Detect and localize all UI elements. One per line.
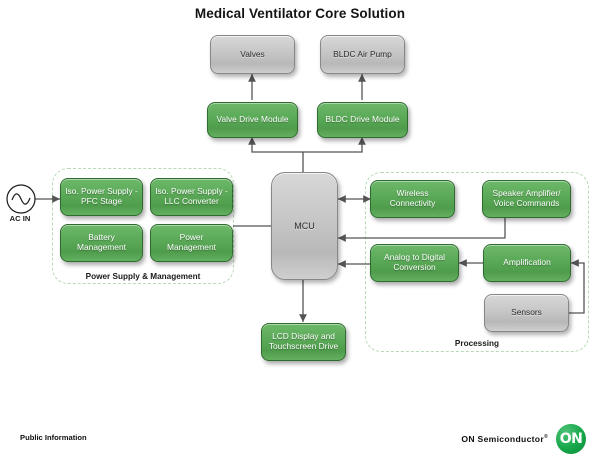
node-wireless-connectivity[interactable]: Wireless Connectivity: [370, 180, 455, 218]
node-bldc-drive-module[interactable]: BLDC Drive Module: [317, 102, 408, 138]
diagram-canvas: Medical Ventilator Core Solution: [0, 0, 600, 469]
node-power-management[interactable]: Power Management: [150, 224, 233, 262]
page-title: Medical Ventilator Core Solution: [0, 6, 600, 21]
node-iso-power-supply-pfc[interactable]: Iso. Power Supply - PFC Stage: [60, 178, 143, 216]
node-sensors-label: Sensors: [488, 308, 565, 318]
brand-registered-mark: ®: [544, 434, 548, 440]
on-semiconductor-logo-icon: ON: [556, 424, 586, 454]
node-mcu-label: MCU: [275, 221, 334, 232]
group-processing-label: Processing: [365, 339, 589, 348]
node-speaker-amplifier[interactable]: Speaker Amplifier/ Voice Commands: [482, 180, 571, 218]
node-speaker-amplifier-label: Speaker Amplifier/ Voice Commands: [486, 189, 567, 209]
node-iso-power-supply-llc[interactable]: Iso. Power Supply - LLC Converter: [150, 178, 233, 216]
node-iso-power-supply-llc-label: Iso. Power Supply - LLC Converter: [154, 187, 229, 207]
node-analog-to-digital-conversion[interactable]: Analog to Digital Conversion: [370, 244, 459, 282]
brand-name: ON Semiconductor®: [461, 434, 548, 444]
wire-mcu-to-bldc-drive: [303, 137, 362, 152]
ac-in-label: AC IN: [0, 214, 40, 223]
node-bldc-air-pump[interactable]: BLDC Air Pump: [320, 35, 405, 74]
node-valve-drive-module-label: Valve Drive Module: [211, 115, 294, 125]
node-amplification-label: Amplification: [487, 258, 567, 268]
node-amplification[interactable]: Amplification: [483, 244, 571, 282]
node-valves-label: Valves: [214, 50, 291, 60]
classification-label: Public Information: [20, 433, 87, 442]
node-bldc-drive-module-label: BLDC Drive Module: [321, 115, 404, 125]
ac-source-sine-icon: [4, 180, 38, 218]
node-lcd-display-touchscreen-drive-label: LCD Display and Touchscreen Drive: [265, 332, 342, 352]
node-mcu[interactable]: MCU: [271, 172, 338, 280]
node-analog-to-digital-conversion-label: Analog to Digital Conversion: [374, 253, 455, 273]
node-bldc-air-pump-label: BLDC Air Pump: [324, 50, 401, 60]
wire-mcu-to-valve-drive: [252, 137, 303, 172]
group-power-supply-management-label: Power Supply & Management: [52, 272, 234, 281]
brand-name-text: ON Semiconductor: [461, 434, 544, 444]
node-battery-management[interactable]: Battery Management: [60, 224, 143, 262]
brand-logo: ON Semiconductor® ON: [461, 424, 586, 454]
node-valves[interactable]: Valves: [210, 35, 295, 74]
node-sensors[interactable]: Sensors: [484, 294, 569, 332]
node-iso-power-supply-pfc-label: Iso. Power Supply - PFC Stage: [64, 187, 139, 207]
node-valve-drive-module[interactable]: Valve Drive Module: [207, 102, 298, 138]
node-power-management-label: Power Management: [154, 233, 229, 253]
node-wireless-connectivity-label: Wireless Connectivity: [374, 189, 451, 209]
node-lcd-display-touchscreen-drive[interactable]: LCD Display and Touchscreen Drive: [261, 323, 346, 361]
node-battery-management-label: Battery Management: [64, 233, 139, 253]
